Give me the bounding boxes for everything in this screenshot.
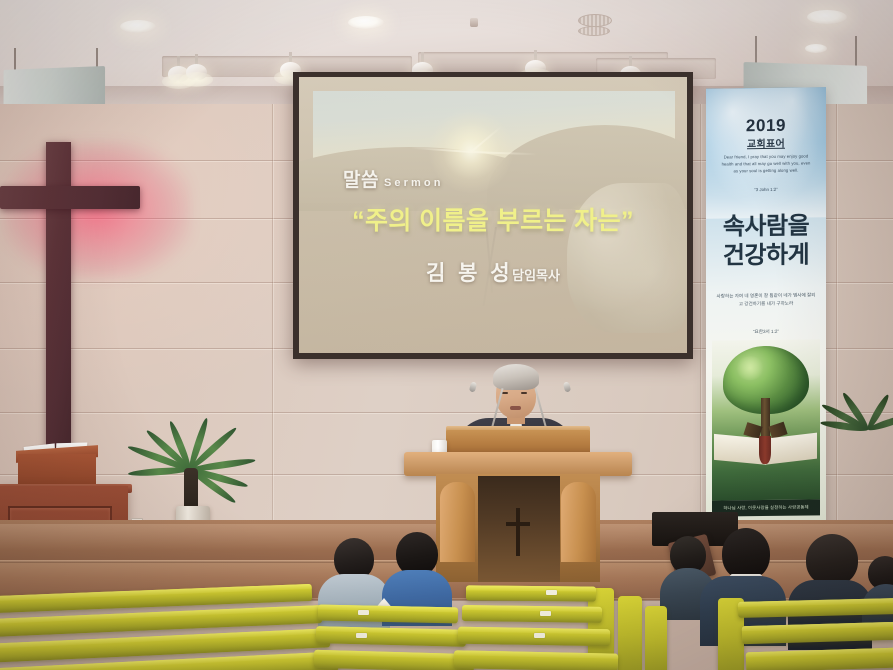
projection-screen[interactable]: 말씀Sermon “주의 이름을 부르는 자는” 김 봉 성담임목사 — [299, 77, 687, 353]
pulpit-cross-vertical — [516, 508, 520, 556]
wall-seam-right — [700, 104, 701, 574]
cross-backlight-glow — [2, 140, 192, 280]
pew-row-1-center[interactable] — [318, 605, 458, 624]
open-book-right-page — [765, 433, 817, 465]
pew-number-tag-3 — [546, 590, 557, 595]
pew-row-2-center[interactable] — [316, 626, 466, 647]
slide-sermon-label: 말씀Sermon — [343, 165, 444, 192]
pew-end-cap-3[interactable] — [645, 606, 667, 670]
pew-row-4-right[interactable] — [454, 650, 618, 670]
pew-row-2-right[interactable] — [462, 605, 602, 623]
open-book-spine — [759, 436, 771, 464]
banner-korean-ref: “요한3서 1:2” — [706, 328, 826, 335]
banner-motto: 속사람을 건강하게 — [706, 211, 826, 271]
pew-row-1-right[interactable] — [466, 585, 596, 601]
slide-sermon-label-ko: 말씀 — [343, 170, 379, 191]
palm-trunk-left — [184, 468, 198, 510]
slide-speaker-name: 김 봉 성 — [426, 262, 513, 285]
pew-row-3-center[interactable] — [314, 650, 474, 670]
banner-korean-verse: 사랑하는 자여 네 영혼이 잘 됨같이 네가 범사에 잘되고 강건하기를 내가 … — [716, 291, 816, 308]
downlight-1 — [120, 20, 156, 33]
sprinkler-head — [470, 18, 478, 27]
pastor-eye-right — [521, 392, 527, 394]
hanging-speaker-left — [0, 48, 110, 112]
pulpit-column-right — [561, 482, 596, 562]
congregant-6 — [862, 556, 893, 626]
banner-english-verse: Dear friend, I pray that you may enjoy g… — [720, 153, 812, 175]
congregant-2 — [382, 532, 452, 616]
pastor-mouth — [510, 406, 521, 410]
slide-speaker-role: 담임목사 — [512, 268, 560, 283]
pastor-eye-left — [502, 392, 508, 394]
wall-cross-horizontal — [0, 186, 140, 209]
banner-tree-illustration — [712, 339, 820, 500]
pastor-hair — [493, 364, 539, 390]
downlight-2 — [348, 16, 384, 29]
slide-speaker-line: 김 봉 성담임목사 — [299, 257, 687, 287]
pew-row-3-far-right[interactable] — [746, 648, 893, 670]
pulpit-counter-top — [404, 452, 632, 476]
pew-number-tag-2 — [356, 633, 367, 638]
banner-motto-line2: 건강하게 — [706, 241, 826, 272]
congregant-4-head — [722, 528, 770, 580]
slide-sermon-title: “주의 이름을 부르는 자는” — [299, 201, 687, 237]
downlight-3 — [807, 10, 847, 24]
potted-palm-right — [828, 396, 893, 526]
tree-trunk — [761, 398, 770, 438]
pulpit-cross-horizontal — [506, 522, 530, 526]
church-sanctuary-photo: 말씀Sermon “주의 이름을 부르는 자는” 김 봉 성담임목사 2019 … — [0, 0, 893, 670]
church-year-banner: 2019 교회표어 Dear friend, I pray that you m… — [706, 87, 826, 528]
banner-subtitle: 교회표어 — [706, 134, 826, 150]
banner-motto-line1: 속사람을 — [706, 211, 826, 242]
slide-text-layer: 말씀Sermon “주의 이름을 부르는 자는” 김 봉 성담임목사 — [299, 77, 687, 353]
projection-screen-frame: 말씀Sermon “주의 이름을 부르는 자는” 김 봉 성담임목사 — [293, 72, 693, 359]
pew-end-cap-2[interactable] — [618, 596, 642, 670]
slide-sermon-label-en: Sermon — [384, 177, 444, 189]
ceiling-vent-2 — [578, 26, 610, 36]
congregant-5-head — [806, 534, 858, 586]
pew-number-tag-4 — [540, 611, 551, 616]
pew-number-tag-5 — [534, 633, 545, 638]
pew-number-tag-1 — [358, 610, 369, 615]
